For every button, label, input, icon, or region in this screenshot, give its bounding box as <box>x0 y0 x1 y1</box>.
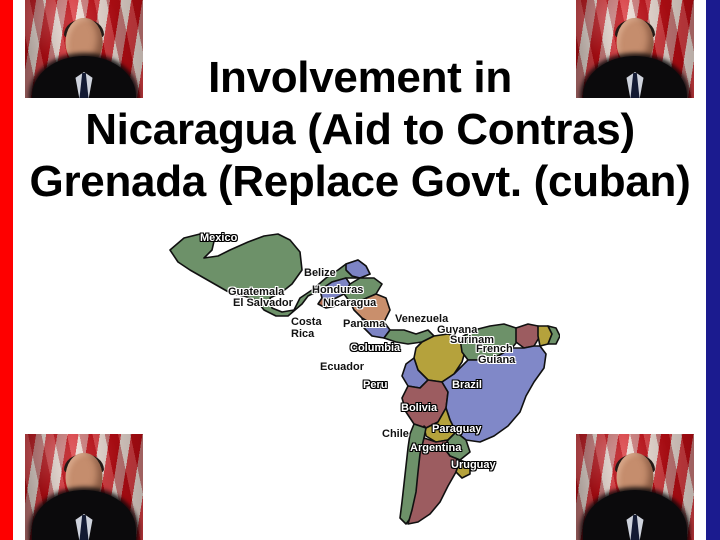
reagan-photo-bottom-left <box>25 434 143 540</box>
presentation-slide: Involvement in Nicaragua (Aid to Contras… <box>0 0 720 540</box>
country-guyana <box>516 324 540 348</box>
title-line-3: Grenada (Replace Govt. (cuban) <box>0 156 720 208</box>
latin-america-map: Mexico Belize Guatemala Honduras El Salv… <box>160 212 560 537</box>
reagan-photo-bottom-right <box>576 434 694 540</box>
title-line-1: Involvement in <box>0 52 720 104</box>
slide-title: Involvement in Nicaragua (Aid to Contras… <box>0 52 720 208</box>
map-graphic <box>160 212 560 537</box>
country-mexico <box>170 234 370 316</box>
title-line-2: Nicaragua (Aid to Contras) <box>0 104 720 156</box>
